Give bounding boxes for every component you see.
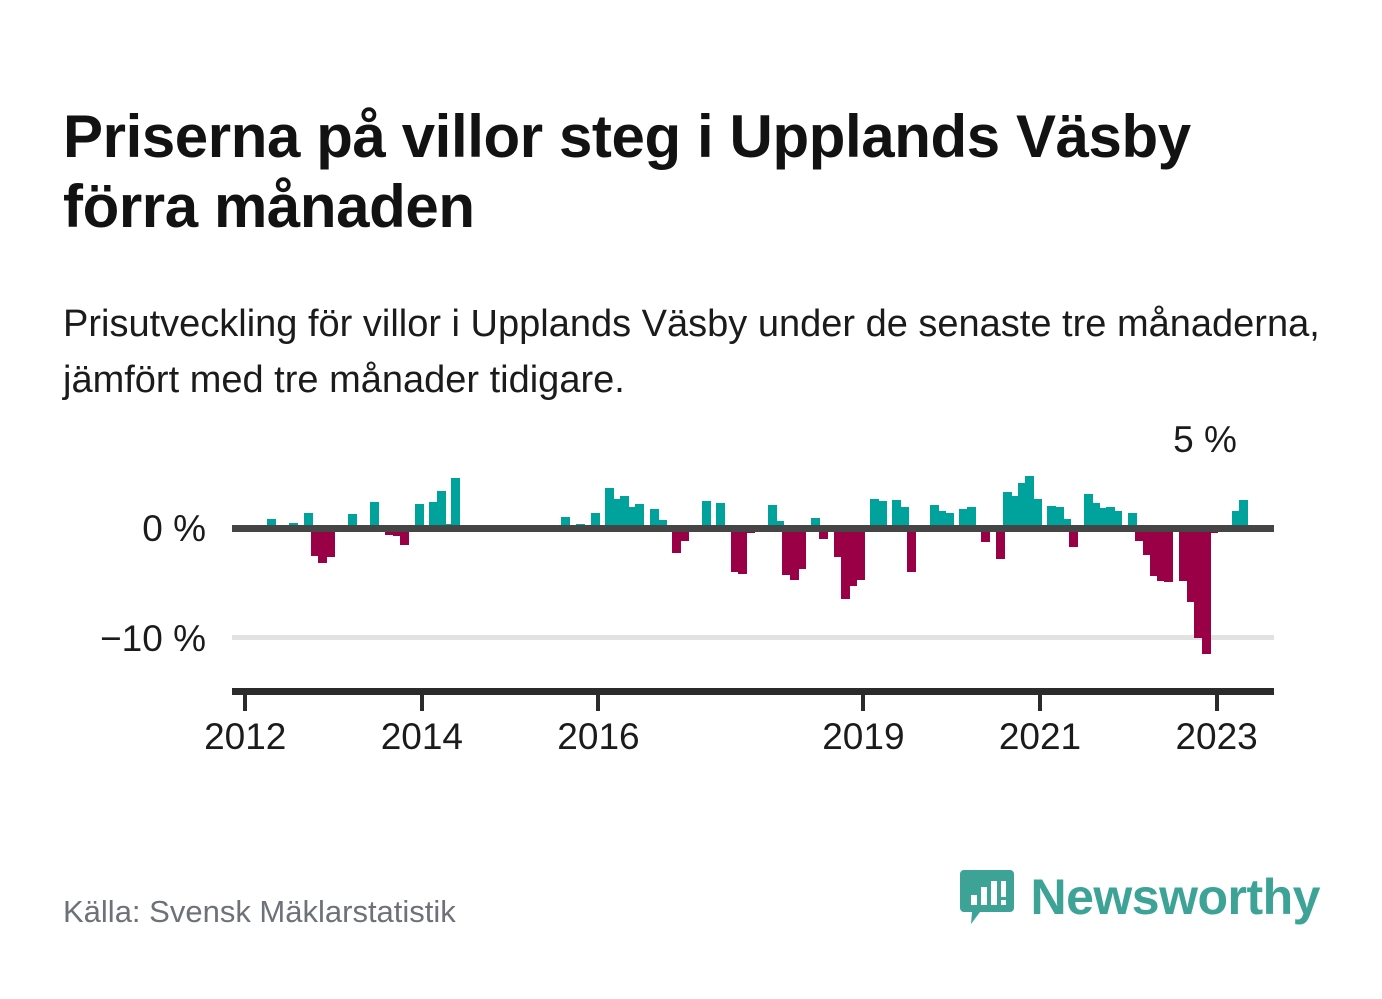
bar bbox=[326, 531, 335, 557]
y-tick-label-0: 0 % bbox=[96, 508, 206, 550]
y-top-label-5: 5 % bbox=[1150, 419, 1260, 461]
bar bbox=[702, 501, 711, 528]
bar-chart-speech-bubble-icon bbox=[958, 868, 1016, 926]
bar bbox=[1164, 531, 1173, 582]
bar bbox=[996, 531, 1005, 559]
x-axis-tick bbox=[420, 695, 424, 711]
x-axis-line bbox=[232, 688, 1274, 695]
newsworthy-logo[interactable]: Newsworthy bbox=[958, 868, 1320, 926]
bar bbox=[981, 531, 990, 542]
x-tick-label: 2021 bbox=[999, 716, 1081, 758]
bar bbox=[819, 531, 828, 539]
newsworthy-wordmark: Newsworthy bbox=[1030, 868, 1320, 926]
x-axis-tick bbox=[1038, 695, 1042, 711]
bar bbox=[1069, 531, 1078, 547]
bar bbox=[1239, 500, 1248, 528]
source-caption: Källa: Svensk Mäklarstatistik bbox=[63, 894, 456, 930]
x-axis-tick bbox=[861, 695, 865, 711]
bar bbox=[738, 531, 747, 574]
x-tick-label: 2014 bbox=[381, 716, 463, 758]
bar bbox=[878, 501, 887, 528]
bar bbox=[451, 478, 460, 528]
x-tick-label: 2016 bbox=[557, 716, 639, 758]
x-tick-label: 2019 bbox=[822, 716, 904, 758]
infographic-page: Priserna på villor steg i Upplands Väsby… bbox=[0, 0, 1382, 999]
bar bbox=[797, 531, 806, 569]
bar bbox=[680, 531, 689, 541]
bar-chart: 201220142016201920212023 0 % −10 % 5 % bbox=[0, 0, 1382, 999]
chart-plot-area bbox=[232, 430, 1272, 688]
x-tick-label: 2023 bbox=[1175, 716, 1257, 758]
y-tick-label-minus-10: −10 % bbox=[76, 618, 206, 660]
bar bbox=[1202, 531, 1211, 654]
x-axis-tick bbox=[1215, 695, 1219, 711]
x-axis-tick bbox=[596, 695, 600, 711]
bar bbox=[437, 491, 446, 528]
bar bbox=[856, 531, 865, 580]
x-axis-tick bbox=[243, 695, 247, 711]
zero-baseline bbox=[232, 525, 1274, 532]
bar bbox=[400, 531, 409, 545]
bar bbox=[907, 531, 916, 572]
bar bbox=[1033, 499, 1042, 528]
x-tick-label: 2012 bbox=[204, 716, 286, 758]
